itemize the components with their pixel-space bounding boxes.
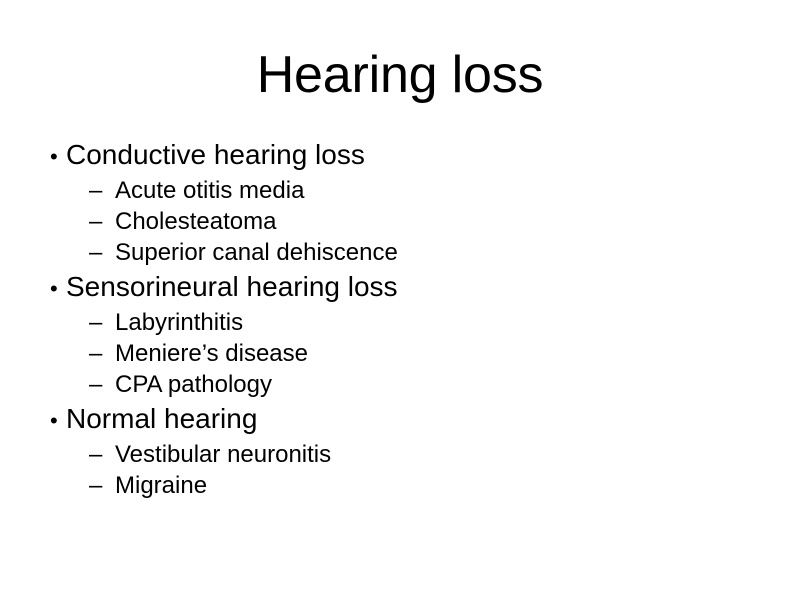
outline-level2-row: – Meniere’s disease	[44, 338, 744, 369]
outline-list: • Conductive hearing loss – Acute otitis…	[44, 136, 744, 501]
outline-level1-row: • Conductive hearing loss	[44, 136, 744, 175]
list-item: – Superior canal dehiscence	[44, 237, 744, 268]
outline-sublist: – Labyrinthitis – Meniere’s disease –	[44, 307, 744, 400]
dash-icon: –	[89, 369, 115, 400]
dash-icon: –	[89, 439, 115, 470]
list-item: – Vestibular neuronitis	[44, 439, 744, 470]
list-item: – Cholesteatoma	[44, 206, 744, 237]
outline-group: • Normal hearing – Vestibular neuronitis…	[44, 400, 744, 501]
bullet-icon: •	[44, 402, 66, 439]
outline-level2-row: – Superior canal dehiscence	[44, 237, 744, 268]
page-title: Hearing loss	[0, 44, 800, 106]
outline-level2-label: Meniere’s disease	[115, 338, 308, 369]
outline-sublist: – Vestibular neuronitis – Migraine	[44, 439, 744, 501]
outline-level2-row: – CPA pathology	[44, 369, 744, 400]
outline-level2-label: CPA pathology	[115, 369, 272, 400]
outline-level2-label: Migraine	[115, 470, 207, 501]
outline-level2-row: – Cholesteatoma	[44, 206, 744, 237]
dash-icon: –	[89, 470, 115, 501]
outline-level1-row: • Sensorineural hearing loss	[44, 268, 744, 307]
outline-group: • Sensorineural hearing loss – Labyrinth…	[44, 268, 744, 400]
outline-level2-label: Vestibular neuronitis	[115, 439, 331, 470]
outline-group: • Conductive hearing loss – Acute otitis…	[44, 136, 744, 268]
outline-level2-row: – Acute otitis media	[44, 175, 744, 206]
dash-icon: –	[89, 338, 115, 369]
list-item: – Acute otitis media	[44, 175, 744, 206]
dash-icon: –	[89, 175, 115, 206]
outline-sublist: – Acute otitis media – Cholesteatoma –	[44, 175, 744, 268]
outline-level1-label: Conductive hearing loss	[66, 136, 365, 173]
list-item: – Labyrinthitis	[44, 307, 744, 338]
dash-icon: –	[89, 307, 115, 338]
slide: Hearing loss • Conductive hearing loss –…	[0, 0, 800, 600]
outline-level2-row: – Migraine	[44, 470, 744, 501]
list-item: – CPA pathology	[44, 369, 744, 400]
outline-level1-label: Normal hearing	[66, 400, 257, 437]
outline-level2-row: – Vestibular neuronitis	[44, 439, 744, 470]
list-item: – Migraine	[44, 470, 744, 501]
outline-level2-label: Superior canal dehiscence	[115, 237, 398, 268]
outline-level1-label: Sensorineural hearing loss	[66, 268, 398, 305]
dash-icon: –	[89, 206, 115, 237]
outline-level1-row: • Normal hearing	[44, 400, 744, 439]
bullet-icon: •	[44, 138, 66, 175]
outline-level2-label: Acute otitis media	[115, 175, 304, 206]
dash-icon: –	[89, 237, 115, 268]
outline-level2-label: Labyrinthitis	[115, 307, 243, 338]
list-item: – Meniere’s disease	[44, 338, 744, 369]
bullet-icon: •	[44, 270, 66, 307]
outline-level2-label: Cholesteatoma	[115, 206, 276, 237]
outline-level2-row: – Labyrinthitis	[44, 307, 744, 338]
slide-body: • Conductive hearing loss – Acute otitis…	[44, 136, 744, 501]
